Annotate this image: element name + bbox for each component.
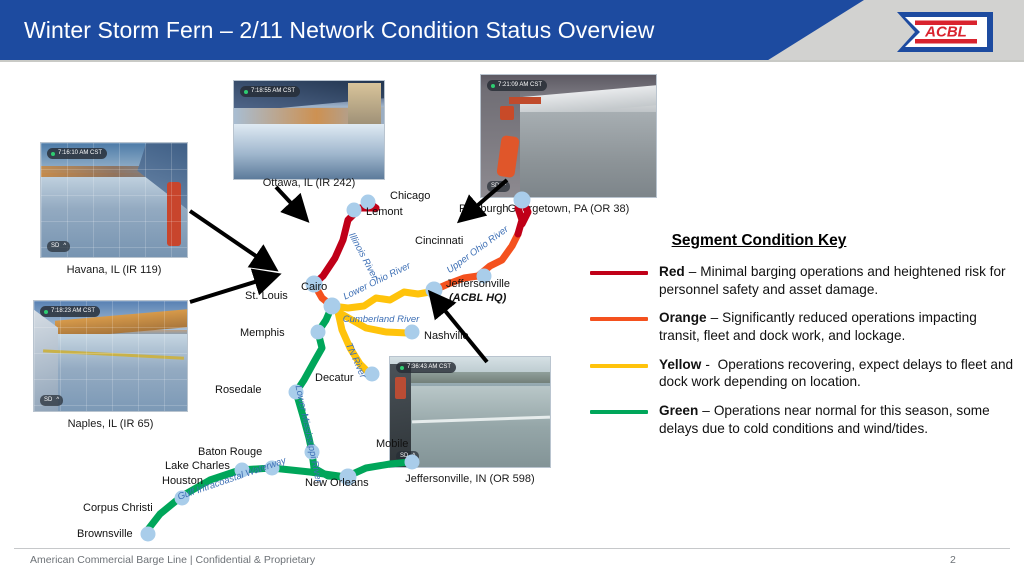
legend-desc-yellow: Operations recovering, expect delays to … (659, 357, 1013, 390)
legend-dash-orange: – (711, 310, 719, 325)
legend-dash-red: – (689, 264, 697, 279)
legend-row-yellow: Yellow- Operations recovering, expect de… (576, 356, 1016, 391)
legend-swatch-yellow (590, 364, 648, 368)
legend-swatch-red (590, 271, 648, 275)
map-label-corpus-christi: Corpus Christi (83, 502, 153, 514)
map-label-decatur: Decatur (315, 372, 354, 384)
legend-text-red: Red–Minimal barging operations and heigh… (659, 263, 1016, 298)
photo-timestamp-badge: 7:16:10 AM CST (47, 148, 107, 159)
photo-ottawa[interactable]: 7:18:55 AM CST (233, 80, 385, 180)
node-nashville (405, 325, 419, 339)
timestamp-text: 7:16:10 AM CST (58, 148, 102, 159)
legend-name-red: Red (659, 264, 685, 279)
slide-header: Winter Storm Fern – 2/11 Network Conditi… (0, 0, 1024, 62)
arrow-georgetown-to-map (455, 176, 515, 226)
legend-swatch-green (590, 410, 648, 414)
legend-dash-green: – (702, 403, 710, 418)
network-map: Chicago Lemont Pittsburgh Cincinnati St.… (60, 180, 580, 570)
legend-row-red: Red–Minimal barging operations and heigh… (576, 263, 1016, 298)
logo-text: ACBL (924, 24, 967, 41)
page-title: Winter Storm Fern – 2/11 Network Conditi… (24, 17, 654, 44)
node-cairo (324, 298, 340, 314)
node-memphis (311, 325, 325, 339)
quality-text: SD (51, 241, 59, 252)
segment-condition-key: Segment Condition Key Red–Minimal bargin… (576, 232, 1016, 448)
live-dot-icon (44, 310, 48, 314)
header-underline (0, 60, 1024, 62)
legend-row-green: Green–Operations near normal for this se… (576, 402, 1016, 437)
legend-swatch-orange (590, 317, 648, 321)
timestamp-text: 7:21:09 AM CST (498, 80, 542, 91)
node-brownsville (141, 527, 155, 541)
node-pittsburgh (514, 192, 530, 208)
map-label-memphis: Memphis (240, 327, 285, 339)
legend-text-orange: Orange–Significantly reduced operations … (659, 309, 1016, 344)
legend-dash-yellow: - (705, 357, 710, 372)
arrow-naples-to-map (186, 268, 296, 308)
live-dot-icon (51, 152, 55, 156)
map-label-rosedale: Rosedale (215, 384, 261, 396)
quality-text: SD (44, 395, 52, 406)
map-label-chicago: Chicago (390, 190, 430, 202)
map-label-brownsville: Brownsville (77, 528, 133, 540)
legend-name-green: Green (659, 403, 698, 418)
map-label-lake-charles: Lake Charles (165, 460, 230, 472)
timestamp-text: 7:18:55 AM CST (251, 86, 295, 97)
arrow-jeffersonville-to-map (425, 290, 495, 370)
map-label-cincinnati: Cincinnati (415, 235, 463, 247)
map-label-lemont: Lemont (366, 206, 403, 218)
live-dot-icon (244, 90, 248, 94)
live-dot-icon (491, 84, 495, 88)
legend-text-green: Green–Operations near normal for this se… (659, 402, 1016, 437)
legend-desc-red: Minimal barging operations and heightene… (659, 264, 1006, 297)
map-label-jeffersonville: Jeffersonville (446, 278, 510, 290)
node-mobile (405, 455, 419, 469)
legend-title: Segment Condition Key (576, 232, 1016, 250)
chevron-up-icon: ^ (56, 395, 59, 406)
footer-divider (14, 548, 1010, 549)
photo-timestamp-badge: 7:18:55 AM CST (240, 86, 300, 97)
legend-text-yellow: Yellow- Operations recovering, expect de… (659, 356, 1016, 391)
footer-page-number: 2 (950, 554, 956, 566)
acbl-logo: ACBL (893, 9, 997, 55)
map-label-baton-rouge: Baton Rouge (198, 446, 262, 458)
map-label-cairo: Cairo (301, 281, 327, 293)
legend-name-yellow: Yellow (659, 357, 701, 372)
node-lemont (347, 203, 361, 217)
photo-timestamp-badge: 7:21:09 AM CST (487, 80, 547, 91)
footer-text: American Commercial Barge Line | Confide… (30, 554, 315, 566)
map-label-mobile: Mobile (376, 438, 408, 450)
map-river-cumberland: Cumberland River (336, 314, 426, 325)
legend-name-orange: Orange (659, 310, 707, 325)
arrow-ottawa-to-map (272, 183, 322, 225)
legend-row-orange: Orange–Significantly reduced operations … (576, 309, 1016, 344)
